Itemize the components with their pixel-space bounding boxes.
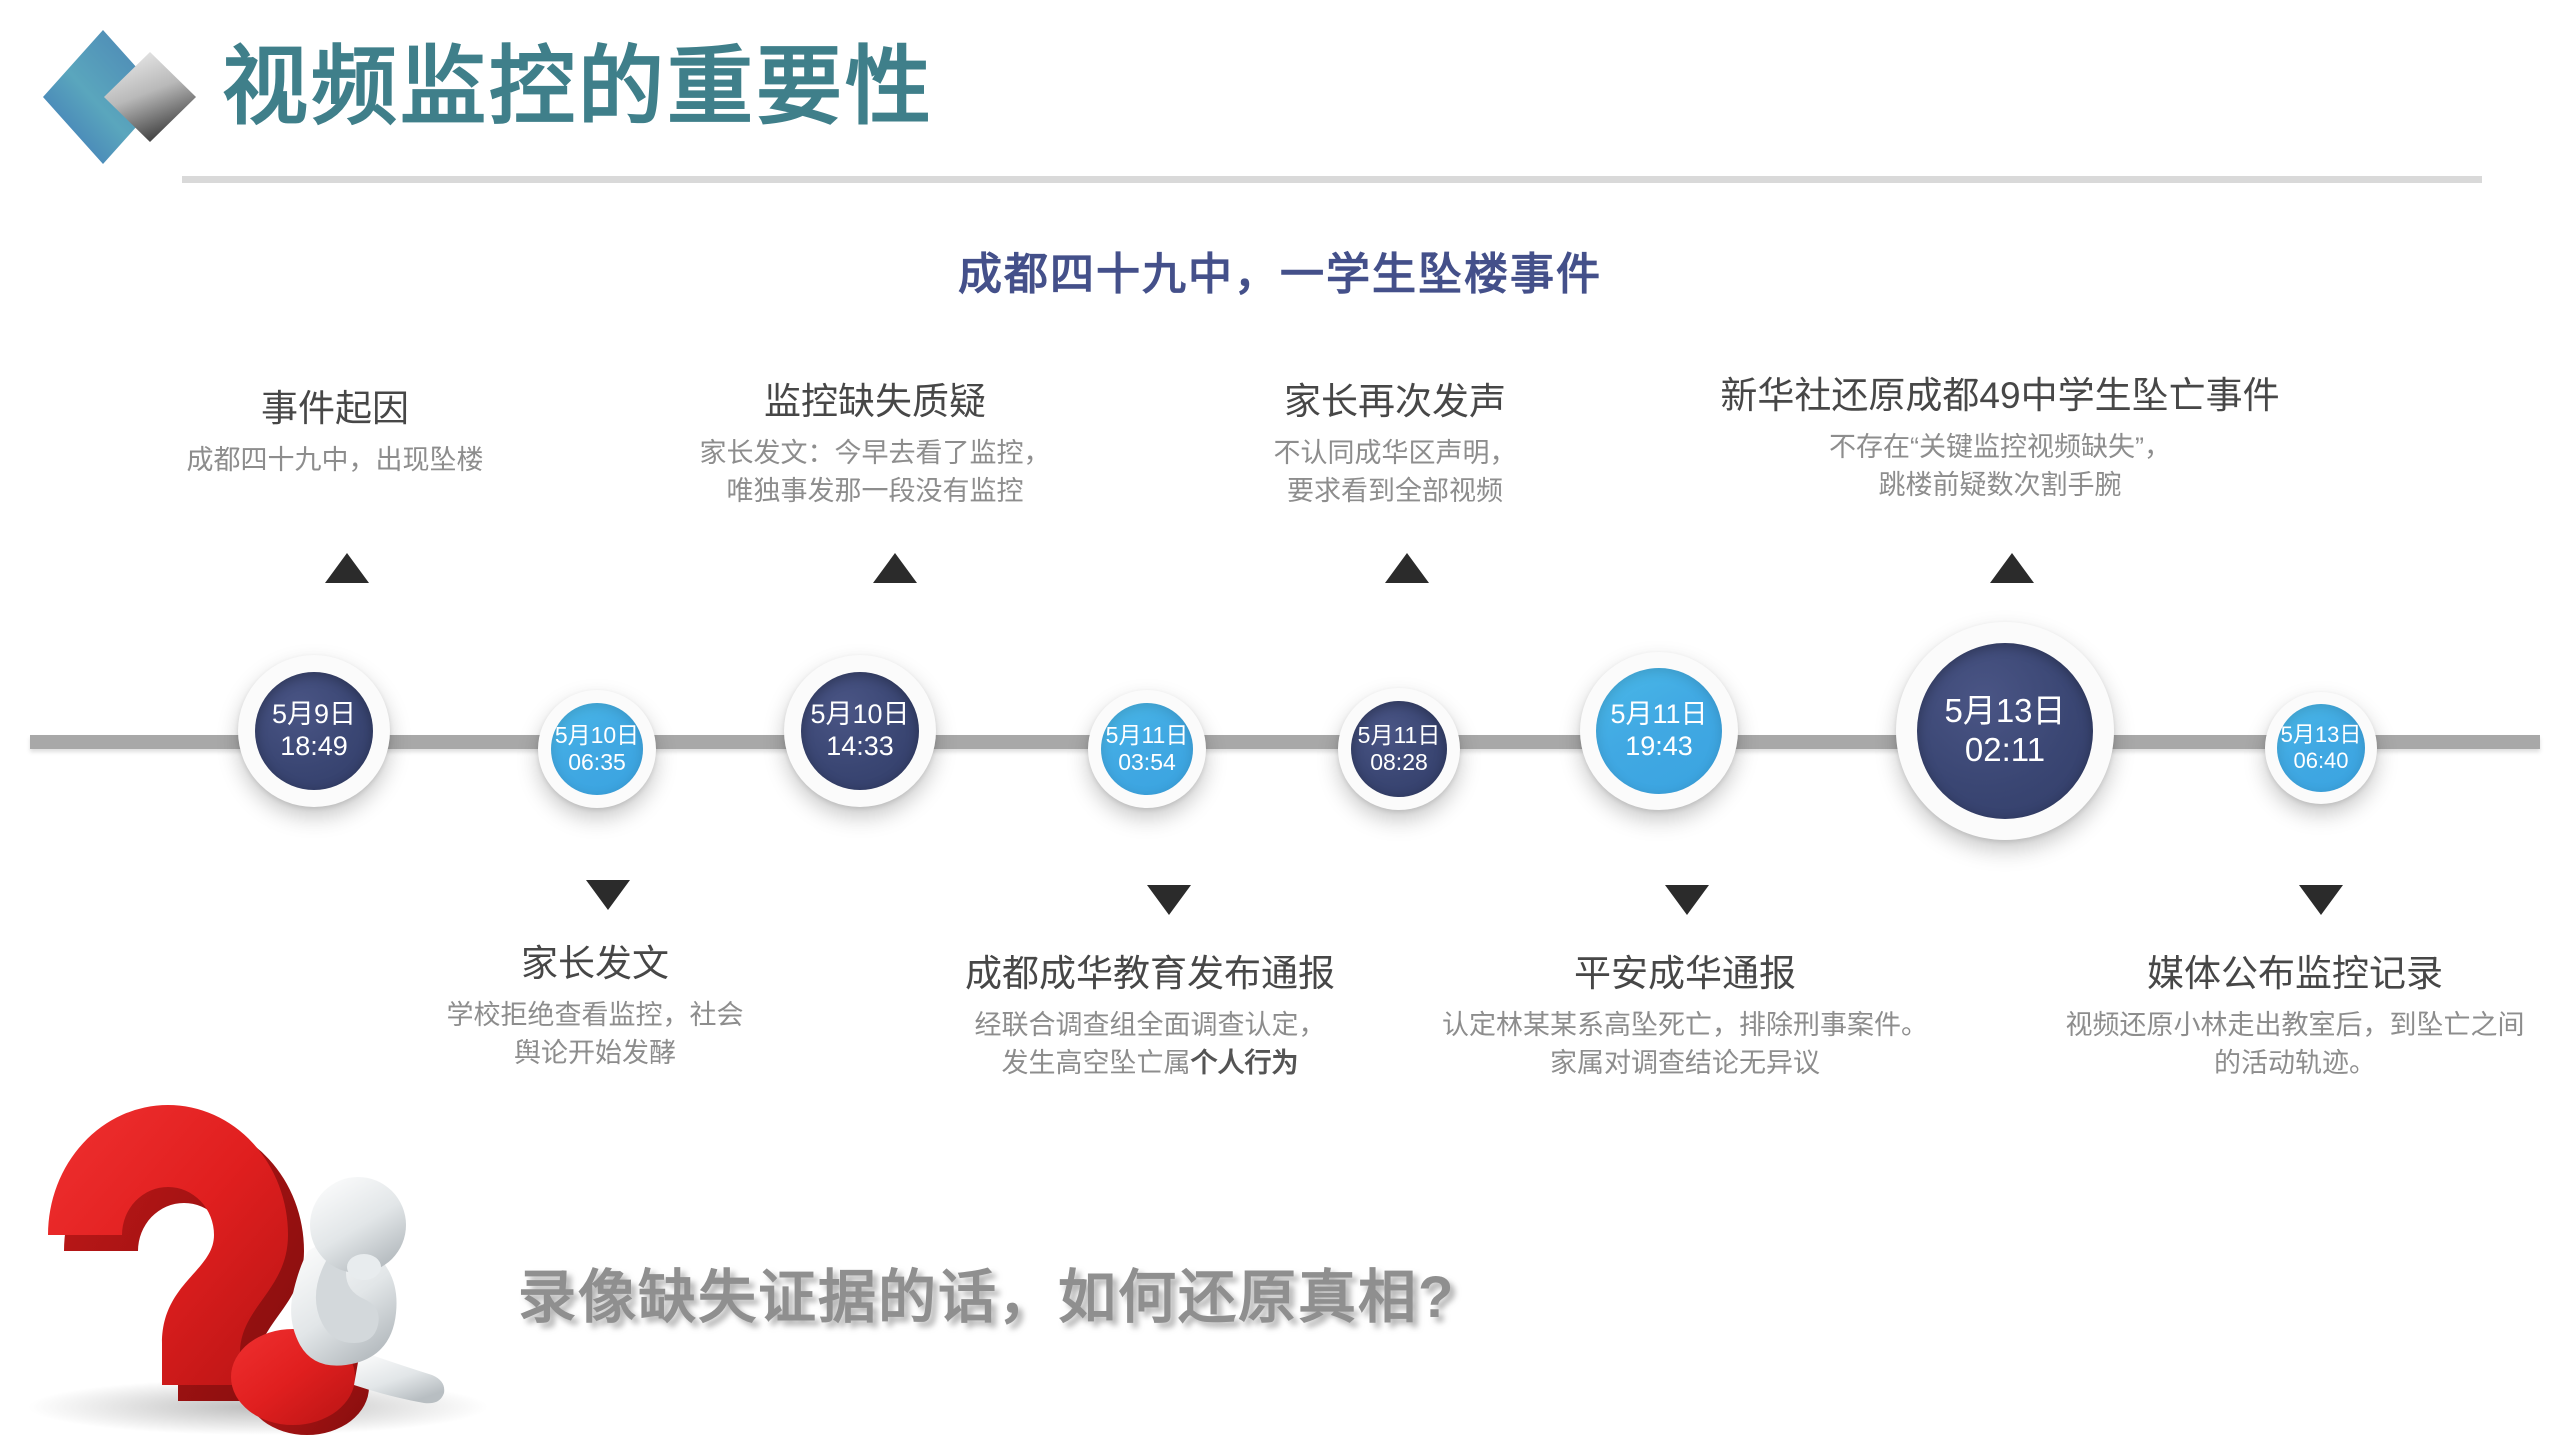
timeline-node[interactable]: 5月13日 06:40 — [2265, 692, 2377, 804]
caption-desc: 家长发文：今早去看了监控， 唯独事发那一段没有监控 — [645, 434, 1105, 511]
caption-desc: 经联合调查组全面调查认定， 发生高空坠亡属个人行为 — [905, 1006, 1395, 1083]
arrow-down-icon — [1665, 885, 1709, 915]
header-divider — [182, 176, 2482, 183]
node-time: 14:33 — [826, 731, 894, 763]
caption-above: 监控缺失质疑 家长发文：今早去看了监控， 唯独事发那一段没有监控 — [645, 378, 1105, 511]
node-date: 5月10日 — [810, 699, 909, 731]
timeline-node[interactable]: 5月9日 18:49 — [238, 655, 390, 807]
node-time: 03:54 — [1118, 749, 1176, 776]
caption-desc: 不存在“关键监控视频缺失”， 跳楼前疑数次割手腕 — [1680, 428, 2320, 505]
node-time: 06:35 — [568, 749, 626, 776]
caption-above: 新华社还原成都49中学生坠亡事件 不存在“关键监控视频缺失”， 跳楼前疑数次割手… — [1680, 372, 2320, 505]
caption-below: 家长发文 学校拒绝查看监控，社会 舆论开始发酵 — [385, 940, 805, 1073]
red-question-mark-thinking-figure-icon — [8, 1055, 518, 1440]
arrow-up-icon — [325, 553, 369, 583]
caption-title: 平安成华通报 — [1425, 950, 1945, 998]
slide-canvas: 视频监控的重要性 成都四十九中，一学生坠楼事件 5月9日 18:49 5月10日… — [0, 0, 2560, 1440]
caption-desc-line: 不认同成华区声明， — [1180, 434, 1610, 472]
caption-title: 监控缺失质疑 — [645, 378, 1105, 426]
node-date: 5月11日 — [1610, 699, 1707, 731]
caption-desc-line: 发生高空坠亡属个人行为 — [905, 1044, 1395, 1082]
node-time: 02:11 — [1965, 731, 2045, 770]
subtitle-heading: 成都四十九中，一学生坠楼事件 — [0, 238, 2560, 302]
timeline-node[interactable]: 5月11日 19:43 — [1580, 652, 1738, 810]
node-date: 5月10日 — [555, 722, 639, 749]
caption-above: 家长再次发声 不认同成华区声明， 要求看到全部视频 — [1180, 378, 1610, 511]
caption-desc-emphasis: 个人行为 — [1191, 1048, 1299, 1078]
arrow-up-icon — [1385, 553, 1429, 583]
caption-desc-line: 不存在“关键监控视频缺失”， — [1680, 428, 2320, 466]
caption-desc-line: 视频还原小林走出教室后，到坠亡之间 — [2045, 1006, 2545, 1044]
caption-desc-line: 家属对调查结论无异议 — [1425, 1044, 1945, 1082]
node-date: 5月11日 — [1358, 722, 1441, 749]
caption-desc-line: 认定林某某系高坠死亡，排除刑事案件。 — [1425, 1006, 1945, 1044]
caption-title: 事件起因 — [110, 385, 560, 433]
caption-title: 家长再次发声 — [1180, 378, 1610, 426]
caption-below: 成都成华教育发布通报 经联合调查组全面调查认定， 发生高空坠亡属个人行为 — [905, 950, 1395, 1083]
page-title: 视频监控的重要性 — [222, 38, 934, 137]
caption-desc: 认定林某某系高坠死亡，排除刑事案件。 家属对调查结论无异议 — [1425, 1006, 1945, 1083]
caption-desc: 视频还原小林走出教室后，到坠亡之间 的活动轨迹。 — [2045, 1006, 2545, 1083]
node-date: 5月13日 — [2281, 722, 2362, 748]
closing-question: 录像缺失证据的话，如何还原真相? — [518, 1250, 1455, 1334]
caption-title: 家长发文 — [385, 940, 805, 988]
arrow-up-icon — [1990, 553, 2034, 583]
timeline-rail — [30, 735, 2540, 749]
caption-title: 媒体公布监控记录 — [2045, 950, 2545, 998]
timeline-node[interactable]: 5月11日 08:28 — [1338, 688, 1460, 810]
caption-title: 成都成华教育发布通报 — [905, 950, 1395, 998]
diamond-logo — [28, 22, 208, 172]
caption-desc: 成都四十九中，出现坠楼 — [110, 441, 560, 479]
node-time: 18:49 — [280, 731, 348, 763]
node-time: 06:40 — [2293, 748, 2348, 774]
node-time: 19:43 — [1625, 731, 1693, 763]
timeline-node[interactable]: 5月10日 14:33 — [784, 655, 936, 807]
timeline-node[interactable]: 5月10日 06:35 — [538, 690, 656, 808]
timeline-node[interactable]: 5月11日 03:54 — [1088, 690, 1206, 808]
timeline-node[interactable]: 5月13日 02:11 — [1896, 622, 2114, 840]
arrow-down-icon — [586, 880, 630, 910]
arrow-down-icon — [2299, 885, 2343, 915]
node-time: 08:28 — [1370, 749, 1428, 776]
node-date: 5月11日 — [1106, 722, 1189, 749]
caption-desc: 不认同成华区声明， 要求看到全部视频 — [1180, 434, 1610, 511]
caption-below: 媒体公布监控记录 视频还原小林走出教室后，到坠亡之间 的活动轨迹。 — [2045, 950, 2545, 1083]
arrow-up-icon — [873, 553, 917, 583]
caption-desc-text: 发生高空坠亡属 — [1002, 1048, 1191, 1078]
caption-desc-line: 家长发文：今早去看了监控， — [645, 434, 1105, 472]
caption-above: 事件起因 成都四十九中，出现坠楼 — [110, 385, 560, 479]
caption-desc-line: 成都四十九中，出现坠楼 — [110, 441, 560, 479]
node-date: 5月9日 — [272, 699, 356, 731]
caption-desc-line: 经联合调查组全面调查认定， — [905, 1006, 1395, 1044]
caption-title: 新华社还原成都49中学生坠亡事件 — [1680, 372, 2320, 420]
arrow-down-icon — [1147, 885, 1191, 915]
caption-desc-line: 要求看到全部视频 — [1180, 472, 1610, 510]
caption-desc-line: 的活动轨迹。 — [2045, 1044, 2545, 1082]
caption-desc-line: 学校拒绝查看监控，社会 — [385, 996, 805, 1034]
caption-desc-line: 跳楼前疑数次割手腕 — [1680, 466, 2320, 504]
caption-desc-line: 唯独事发那一段没有监控 — [645, 472, 1105, 510]
node-date: 5月13日 — [1944, 692, 2065, 731]
caption-below: 平安成华通报 认定林某某系高坠死亡，排除刑事案件。 家属对调查结论无异议 — [1425, 950, 1945, 1083]
